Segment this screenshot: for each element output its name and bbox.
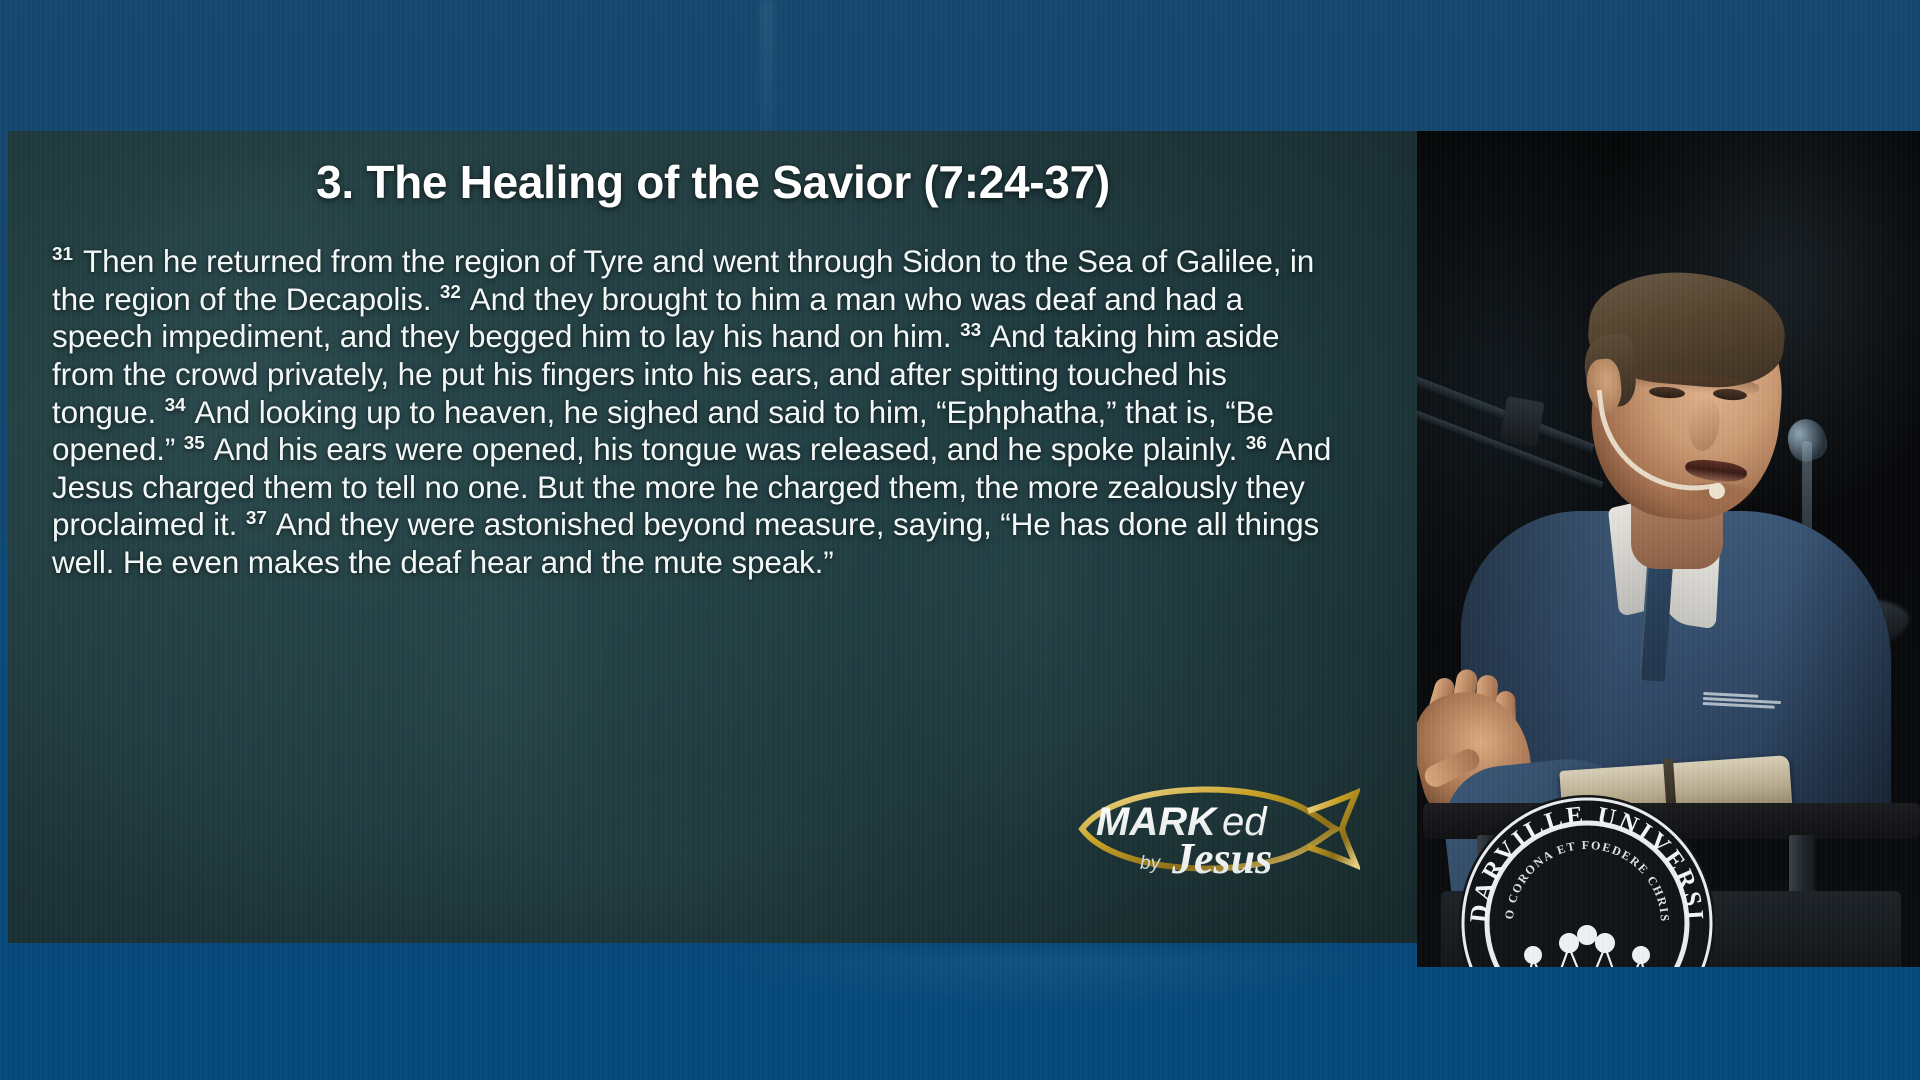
verse-number: 37: [246, 508, 267, 529]
verse-number: 34: [165, 395, 186, 416]
cedarville-university-seal: CEDARVILLE UNIVERSITY PRO CORONA ET FOED…: [1455, 791, 1719, 967]
scripture-passage: 31 Then he returned from the region of T…: [52, 243, 1337, 582]
marked-by-jesus-logo: MARK ed by Jesus: [1060, 769, 1360, 887]
verse-number: 35: [184, 433, 205, 454]
verse-number: 31: [52, 244, 73, 265]
matte-top-bleed: [760, 0, 774, 132]
broadcast-frame: 3. The Healing of the Savior (7:24-37) 3…: [0, 0, 1920, 1080]
chest-embroidery-logo: [1702, 685, 1781, 715]
verse-number: 33: [960, 320, 981, 341]
slide-title: 3. The Healing of the Savior (7:24-37): [52, 155, 1374, 209]
logo-by-text: by: [1140, 853, 1162, 874]
slide-content: 3. The Healing of the Savior (7:24-37) 3…: [8, 155, 1418, 582]
verse-number: 36: [1246, 433, 1267, 454]
verse-text: And his ears were opened, his tongue was…: [207, 431, 1246, 467]
speaker-video-panel: CEDARVILLE UNIVERSITY PRO CORONA ET FOED…: [1417, 131, 1920, 967]
headset-microphone-capsule: [1709, 483, 1725, 499]
matte-bottom-bleed: [700, 952, 1400, 1012]
logo-jesus-text: Jesus: [1171, 834, 1272, 883]
presentation-slide: 3. The Healing of the Savior (7:24-37) 3…: [8, 131, 1418, 943]
verse-number: 32: [440, 282, 461, 303]
